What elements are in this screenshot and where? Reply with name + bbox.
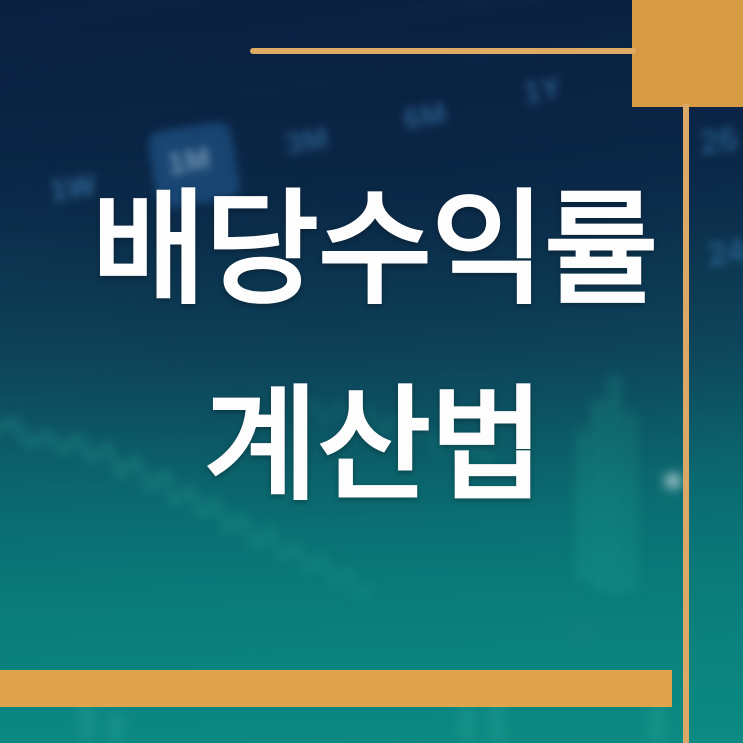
promo-card: 1W 1M 3M 6M 1Y 26 24 22 배당수익률 계산법 xyxy=(0,0,743,743)
headline-line-1: 배당수익률 xyxy=(0,188,743,312)
gold-accent-block xyxy=(632,0,743,107)
gold-horizontal-rule-top xyxy=(250,48,636,54)
headline-block: 배당수익률 계산법 xyxy=(0,188,743,508)
headline-line-2: 계산법 xyxy=(0,384,743,508)
gold-bar-bottom xyxy=(0,670,672,707)
